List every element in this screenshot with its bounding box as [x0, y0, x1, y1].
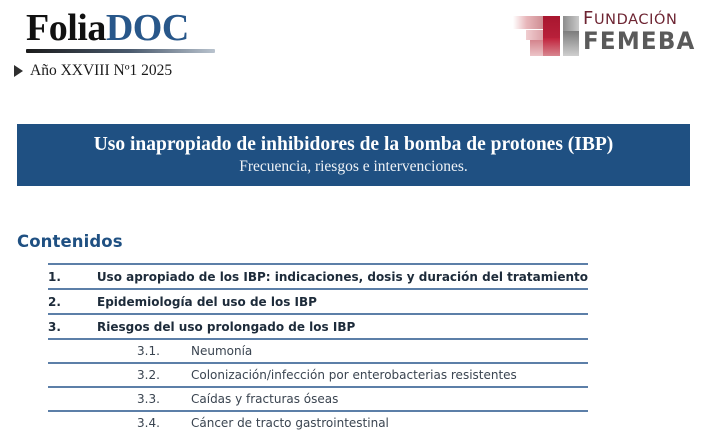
masthead: FoliaDOC Año XXVIII Nº1 2025 FUNDACIÓN F…: [0, 0, 707, 104]
toc-subitem-number: 3.1.: [137, 344, 191, 358]
toc-subitem-label: Caídas y fracturas óseas: [191, 392, 338, 406]
femeba-line-fundacion: FUNDACIÓN: [583, 10, 699, 29]
toc-subitem-number: 3.4.: [137, 416, 191, 430]
toc-item[interactable]: 3. Riesgos del uso prolongado de los IBP: [48, 313, 588, 338]
femeba-fundacion-rest: UNDACIÓN: [594, 12, 678, 28]
toc-subitem-number: 3.3.: [137, 392, 191, 406]
toc-subitem-label: Cáncer de tracto gastrointestinal: [191, 416, 389, 430]
brand-underline-rule: [26, 49, 215, 53]
femeba-cross-mark-icon: [513, 12, 579, 56]
issue-text: Año XXVIII Nº1 2025: [30, 62, 172, 80]
toc-item-number: 3.: [48, 320, 97, 334]
toc-item[interactable]: 2. Epidemiología del uso de los IBP: [48, 288, 588, 313]
triangle-right-icon: [14, 65, 23, 77]
toc-subitem[interactable]: 3.4. Cáncer de tracto gastrointestinal: [48, 410, 588, 434]
toc-item-label: Epidemiología del uso de los IBP: [97, 295, 317, 309]
toc-item-number: 2.: [48, 295, 97, 309]
toc-item-label: Uso apropiado de los IBP: indicaciones, …: [97, 270, 588, 284]
toc-subitem[interactable]: 3.2. Colonización/infección por enteroba…: [48, 362, 588, 386]
toc-item-label: Riesgos del uso prolongado de los IBP: [97, 320, 355, 334]
toc-subitem[interactable]: 3.3. Caídas y fracturas óseas: [48, 386, 588, 410]
article-subtitle: Frecuencia, riesgos e intervenciones.: [239, 157, 468, 177]
brand-folia-text: Folia: [26, 7, 106, 49]
toc-subitem-label: Colonización/infección por enterobacteri…: [191, 368, 517, 382]
table-of-contents: 1. Uso apropiado de los IBP: indicacione…: [48, 263, 588, 434]
toc-item[interactable]: 1. Uso apropiado de los IBP: indicacione…: [48, 263, 588, 288]
femeba-line-femeba: FEMEBA: [583, 29, 699, 56]
fundacion-femeba-logo[interactable]: FUNDACIÓN FEMEBA: [513, 10, 697, 58]
contents-heading: Contenidos: [17, 232, 123, 251]
article-title-banner: Uso inapropiado de inhibidores de la bom…: [17, 124, 690, 186]
toc-subitem-label: Neumonía: [191, 344, 252, 358]
article-title: Uso inapropiado de inhibidores de la bom…: [94, 133, 614, 157]
toc-subitem[interactable]: 3.1. Neumonía: [48, 338, 588, 362]
issue-line: Año XXVIII Nº1 2025: [14, 62, 172, 80]
foliadoc-logo[interactable]: FoliaDOC: [26, 8, 221, 53]
foliadoc-wordmark: FoliaDOC: [26, 8, 221, 48]
femeba-fundacion-initial: F: [583, 8, 594, 29]
femeba-wordmark: FUNDACIÓN FEMEBA: [583, 10, 699, 54]
toc-subitem-number: 3.2.: [137, 368, 191, 382]
brand-doc-text: DOC: [106, 7, 189, 49]
toc-item-number: 1.: [48, 270, 97, 284]
